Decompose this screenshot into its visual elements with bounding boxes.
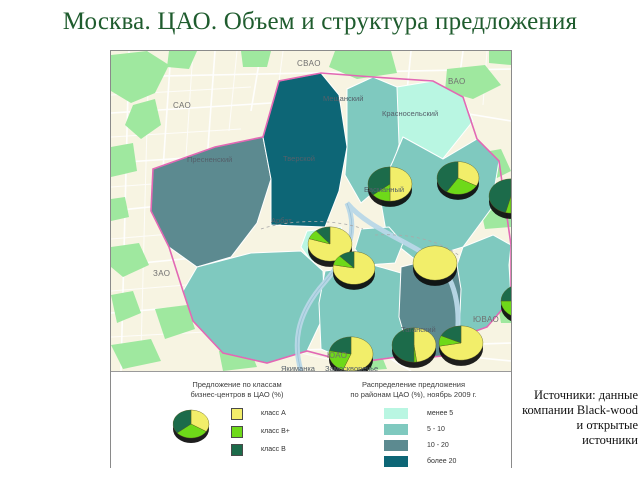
pie-chart [439,326,483,366]
legend-choropleth-label: менее 5 [427,410,453,417]
page-title: Москва. ЦАО. Объем и структура предложен… [0,8,640,36]
legend-class-swatch [231,444,243,456]
pie-chart [437,162,479,200]
pie-chart [392,328,436,368]
legend-choropleth-label: 10 - 20 [427,442,449,449]
source-note: Источники: данные компании Black-wood и … [520,388,638,448]
legend-choropleth-label: более 20 [427,458,456,465]
legend-choropleth-swatch [384,424,408,435]
legend-choropleth-swatch [384,408,408,419]
legend-class-swatch [231,426,243,438]
legend-panel: Предложение по классам бизнес-центров в … [111,372,511,468]
legend-choropleth-swatch [384,456,408,467]
legend-distribution-title: Распределение предложения по районам ЦАО… [316,380,511,399]
legend-class-label: класс В+ [261,428,290,435]
legend-class-label: класс В [261,446,286,453]
map-canvas[interactable]: СВАОВАОСАОЗАОЮВАОЮАОМещанскийКрасносельс… [111,51,511,372]
pie-chart [413,246,457,286]
legend-choropleth-label: 5 - 10 [427,426,445,433]
pie-slice [413,246,457,280]
pie-chart [173,410,209,443]
figure-panel: СВАОВАОСАОЗАОЮВАОЮАОМещанскийКрасносельс… [110,50,512,468]
legend-classes-title: Предложение по классам бизнес-центров в … [147,380,327,399]
pie-chart [368,167,412,207]
pie-chart [329,337,373,371]
pie-chart [333,252,375,290]
legend-pie-sample [165,406,219,448]
legend-choropleth-swatch [384,440,408,451]
map-graphic [111,51,511,371]
legend-class-label: класс А [261,410,286,417]
legend-class-swatch [231,408,243,420]
